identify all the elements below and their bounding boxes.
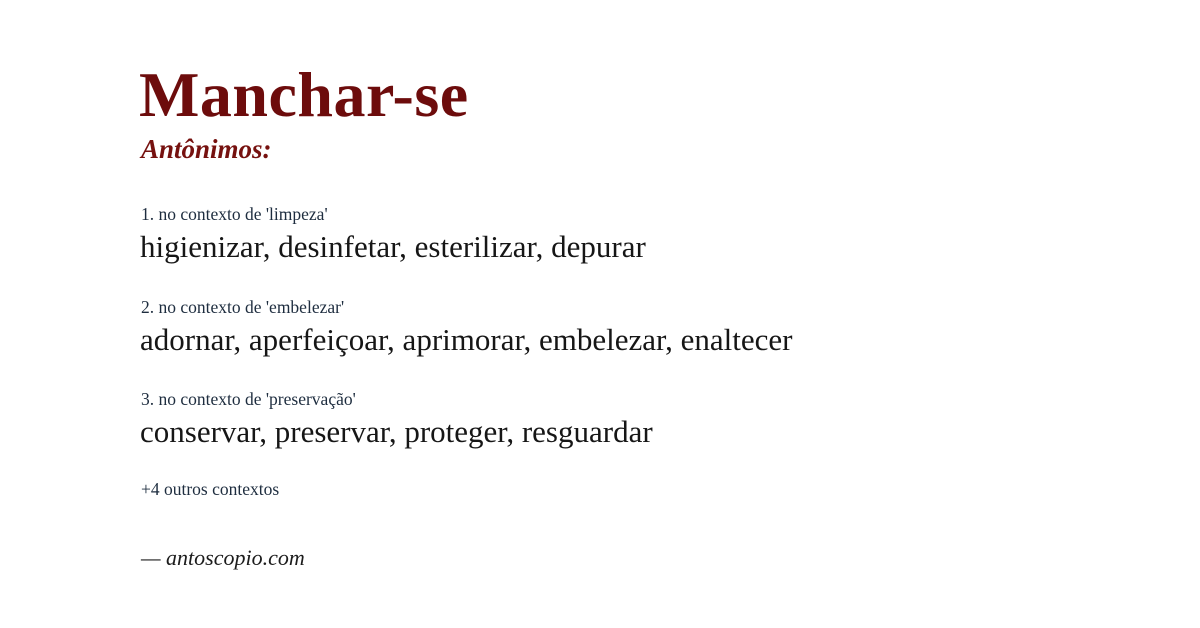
source-attribution: — antoscopio.com: [141, 545, 1140, 571]
more-contexts-note: +4 outros contextos: [141, 479, 1140, 500]
sense-list: 1. no contexto de 'limpeza' higienizar, …: [139, 204, 1140, 450]
page-title: Manchar-se: [139, 62, 1140, 129]
sense-entry: 3. no contexto de 'preservação' conserva…: [139, 389, 1140, 450]
sense-antonyms: adornar, aperfeiçoar, aprimorar, embelez…: [140, 322, 1140, 359]
sense-entry: 1. no contexto de 'limpeza' higienizar, …: [139, 204, 1140, 265]
sense-antonyms: higienizar, desinfetar, esterilizar, dep…: [140, 229, 1140, 266]
sense-antonyms: conservar, preservar, proteger, resguard…: [140, 414, 1140, 451]
section-subtitle: Antônimos:: [141, 135, 1140, 165]
sense-context-label: 3. no contexto de 'preservação': [141, 389, 1140, 411]
sense-context-label: 2. no contexto de 'embelezar': [141, 297, 1140, 319]
sense-context-label: 1. no contexto de 'limpeza': [141, 204, 1140, 226]
sense-entry: 2. no contexto de 'embelezar' adornar, a…: [139, 297, 1140, 358]
antonym-card: Manchar-se Antônimos: 1. no contexto de …: [0, 0, 1200, 628]
